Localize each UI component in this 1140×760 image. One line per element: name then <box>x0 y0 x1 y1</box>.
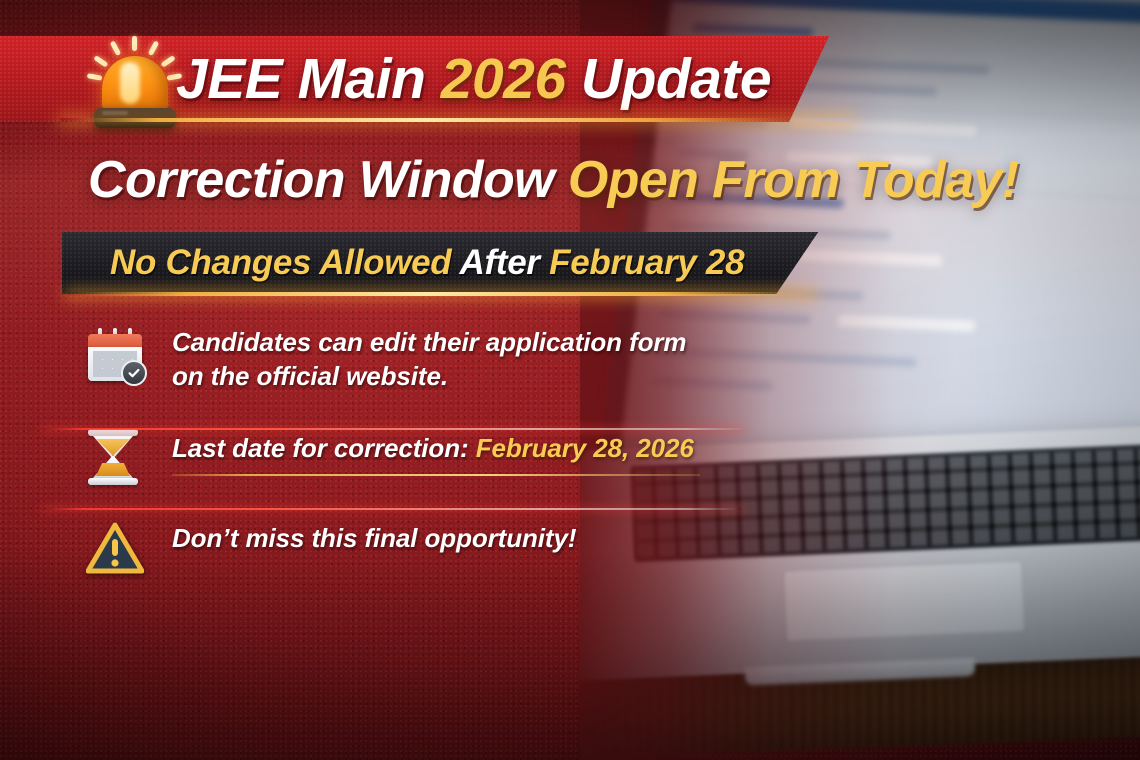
list-item: Candidates can edit their application fo… <box>0 326 760 422</box>
bullet-3-label: Don’t miss this final opportunity! <box>172 523 576 553</box>
beacon-ray <box>93 55 108 68</box>
deadline-subbanner: No Changes Allowed After February 28 <box>62 232 818 294</box>
banner-title-main: JEE Main <box>176 47 441 111</box>
list-item-text: Don’t miss this final opportunity! <box>172 522 576 556</box>
headline-white: Correction Window <box>88 151 568 209</box>
beacon-ray <box>87 73 103 81</box>
beacon-ray <box>132 36 137 51</box>
beacon-ray <box>167 73 183 81</box>
date-underline <box>172 474 700 476</box>
page-title: Correction Window Open From Today! <box>88 150 1019 210</box>
beacon-ray <box>160 55 175 68</box>
calendar-header <box>88 334 142 347</box>
headline-gold: Open From Today! <box>568 151 1019 209</box>
beacon-ray <box>148 40 159 56</box>
hourglass-sand-top <box>96 439 130 455</box>
subbanner-text: No Changes Allowed After February 28 <box>110 243 744 283</box>
check-badge-icon <box>121 360 147 386</box>
subbanner-mid: After <box>460 243 550 282</box>
list-item: Don’t miss this final opportunity! <box>0 508 760 594</box>
calendar-check-icon <box>86 326 148 388</box>
hourglass-sand-bottom <box>96 463 130 476</box>
warning-triangle-icon <box>86 522 148 584</box>
bullet-1-line-2: on the official website. <box>172 361 448 391</box>
hourglass-cap-bottom <box>88 478 138 485</box>
subbanner-gold-glow-line <box>66 292 814 296</box>
bullet-list: Candidates can edit their application fo… <box>0 326 760 594</box>
bullet-2-date: February 28, 2026 <box>476 433 694 463</box>
subbanner-date: February 28 <box>549 243 744 282</box>
banner-gold-glow-line <box>60 118 852 122</box>
bullet-divider <box>42 508 742 510</box>
beacon-ray <box>110 40 121 56</box>
list-item: Last date for correction: February 28, 2… <box>0 422 760 508</box>
banner-title-year: 2026 <box>441 47 566 111</box>
banner-title: JEE Main 2026 Update <box>176 46 771 112</box>
subbanner-lead: No Changes Allowed <box>110 243 460 282</box>
bullet-2-label: Last date for correction: <box>172 433 476 463</box>
list-item-text: Candidates can edit their application fo… <box>172 326 686 394</box>
banner-title-suffix: Update <box>566 47 772 111</box>
hourglass-icon <box>86 428 148 490</box>
bullet-1-line-1: Candidates can edit their application fo… <box>172 327 686 357</box>
bullet-divider <box>42 428 742 430</box>
beacon-dome <box>102 56 168 112</box>
hourglass-cap-top <box>88 429 138 436</box>
poster-canvas: JEE Main 2026 Update Correction Window O… <box>0 0 1140 760</box>
list-item-text: Last date for correction: February 28, 2… <box>172 432 694 466</box>
